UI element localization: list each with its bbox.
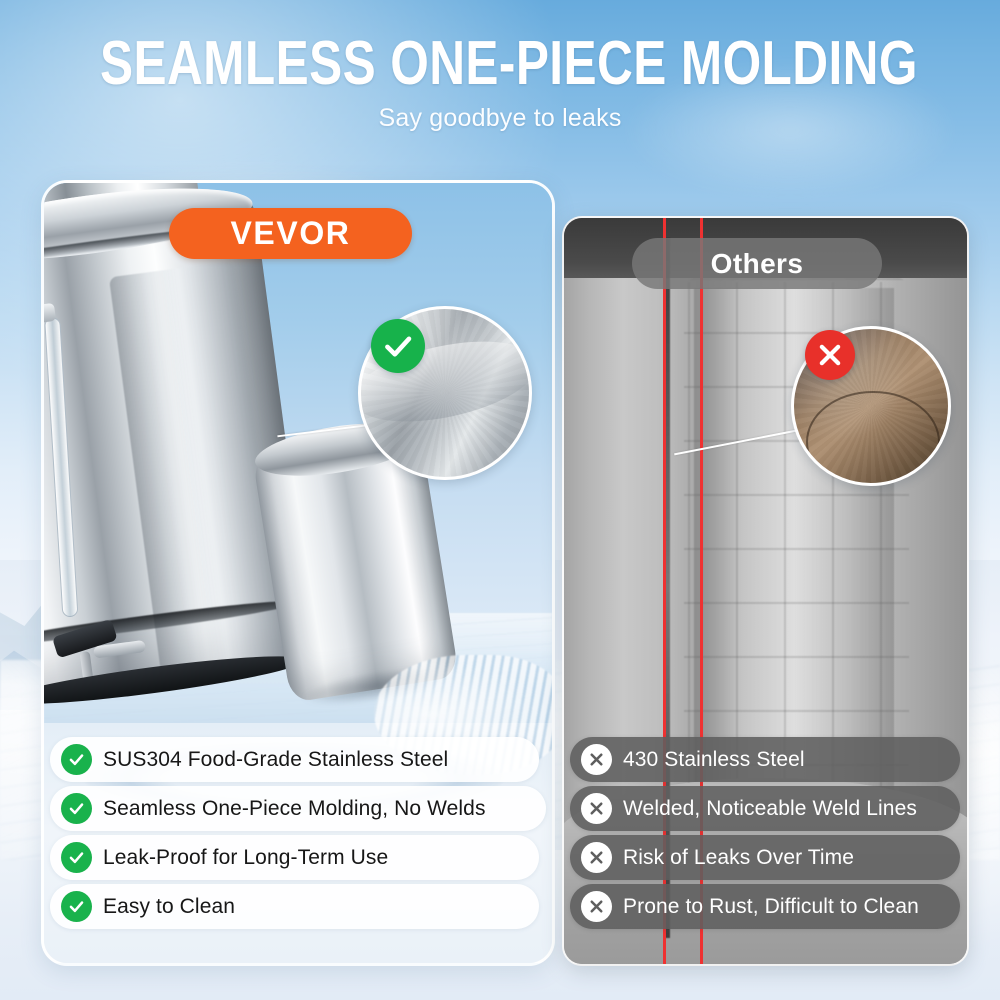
feature-label: Seamless One-Piece Molding, No Welds	[103, 797, 486, 821]
vevor-brand-badge: VEVOR	[169, 208, 412, 259]
list-item: SUS304 Food-Grade Stainless Steel	[50, 737, 539, 782]
check-circle-icon	[61, 744, 92, 775]
feature-label: SUS304 Food-Grade Stainless Steel	[103, 748, 448, 772]
x-circle-icon	[805, 330, 855, 380]
check-circle-icon	[61, 842, 92, 873]
list-item: Seamless One-Piece Molding, No Welds	[50, 786, 546, 831]
others-feature-list: 430 Stainless Steel Welded, Noticeable W…	[570, 737, 962, 933]
drawback-label: Prone to Rust, Difficult to Clean	[623, 895, 919, 919]
feature-label: Easy to Clean	[103, 895, 235, 919]
list-item: 430 Stainless Steel	[570, 737, 960, 782]
x-circle-icon	[581, 793, 612, 824]
check-circle-icon	[371, 319, 425, 373]
others-badge-label: Others	[711, 248, 804, 280]
list-item: Easy to Clean	[50, 884, 539, 929]
drawback-label: Welded, Noticeable Weld Lines	[623, 797, 917, 821]
list-item: Leak-Proof for Long-Term Use	[50, 835, 539, 880]
drawback-label: Risk of Leaks Over Time	[623, 846, 854, 870]
list-item: Risk of Leaks Over Time	[570, 835, 960, 880]
x-circle-icon	[581, 842, 612, 873]
drawback-label: 430 Stainless Steel	[623, 748, 805, 772]
vevor-feature-list: SUS304 Food-Grade Stainless Steel Seamle…	[50, 737, 550, 933]
check-circle-icon	[61, 891, 92, 922]
vevor-badge-label: VEVOR	[230, 215, 350, 252]
feature-label: Leak-Proof for Long-Term Use	[103, 846, 388, 870]
list-item: Prone to Rust, Difficult to Clean	[570, 884, 960, 929]
list-item: Welded, Noticeable Weld Lines	[570, 786, 960, 831]
x-circle-icon	[581, 744, 612, 775]
check-circle-icon	[61, 793, 92, 824]
x-circle-icon	[581, 891, 612, 922]
others-badge: Others	[632, 238, 882, 289]
